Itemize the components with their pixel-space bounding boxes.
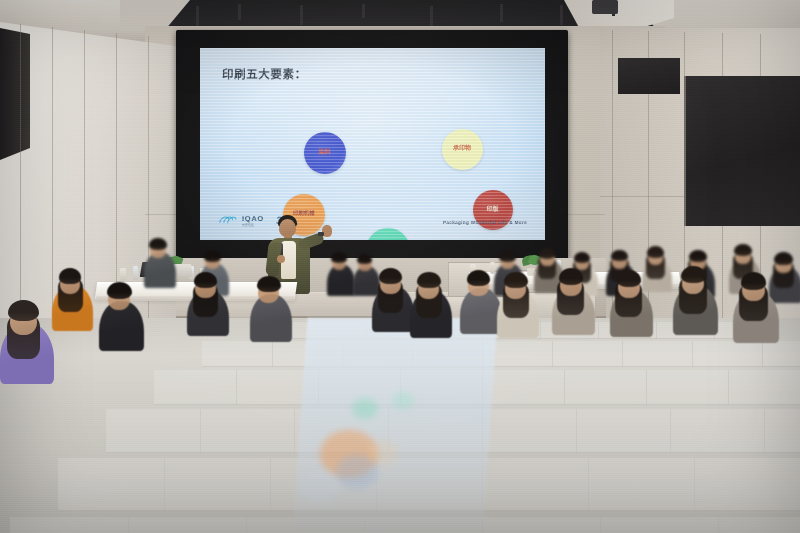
- ceiling-pipe: [196, 6, 199, 28]
- floor-tile: [588, 458, 695, 511]
- floor-tile: [482, 370, 565, 405]
- floor-tile: [164, 458, 271, 511]
- floor-tile: [728, 370, 800, 405]
- floor-tile: [600, 517, 719, 533]
- presentation-room-photo: 印刷五大要素： 染料承印物印刷机械印版印刷油墨 IQAO 吉安包装 35 YEA…: [0, 0, 800, 533]
- hair: [539, 248, 555, 259]
- wall-seam: [84, 30, 85, 322]
- left-wall-dark-edge: [0, 28, 30, 168]
- hair: [379, 268, 402, 284]
- ceiling-pipe: [560, 5, 563, 25]
- floor-tile: [694, 458, 800, 511]
- hair: [741, 272, 767, 290]
- right-wall-dark-panel-upper: [618, 58, 680, 94]
- water-bottle: [133, 266, 138, 280]
- floor-tile: [10, 517, 129, 533]
- hair: [331, 252, 347, 263]
- wall-seam: [52, 27, 53, 323]
- hair: [647, 246, 664, 258]
- floor-tile: [202, 341, 273, 367]
- wall-seam: [20, 24, 21, 324]
- hair: [107, 282, 132, 299]
- hair: [257, 276, 281, 292]
- floor-tile: [670, 409, 765, 453]
- floor-tile: [646, 370, 729, 405]
- ceiling-soffit-left-upper: [0, 0, 120, 26]
- ceiling-pipe: [300, 5, 303, 25]
- hair: [204, 250, 221, 262]
- screen-vignette: [200, 48, 545, 240]
- hair: [681, 266, 706, 283]
- floor-tile: [692, 341, 763, 367]
- floor-tile: [718, 517, 800, 533]
- presenter-hand-mic: [277, 255, 285, 263]
- floor-tile: [564, 370, 647, 405]
- floor-tile: [128, 517, 247, 533]
- hair: [559, 268, 583, 285]
- bubble-reflection: [300, 470, 340, 503]
- hair: [194, 272, 217, 288]
- hair: [734, 244, 752, 256]
- floor-tile: [764, 409, 800, 453]
- water-bottle: [120, 268, 126, 281]
- bubble-reflection: [392, 392, 414, 410]
- hair: [689, 250, 706, 262]
- hair: [467, 270, 490, 286]
- floor-tile: [58, 458, 165, 511]
- hair: [774, 252, 793, 265]
- floor-tile: [576, 409, 671, 453]
- ceiling-pipe: [500, 4, 503, 22]
- hair: [504, 272, 528, 288]
- ceiling-duct: [592, 0, 618, 14]
- hair: [611, 250, 628, 261]
- hair: [357, 254, 372, 264]
- ceiling-pipe: [362, 4, 365, 18]
- floor-tile: [622, 341, 693, 367]
- floor-tile: [552, 341, 623, 367]
- laptop: [173, 264, 193, 277]
- floor-tile: [106, 409, 201, 453]
- hair: [149, 238, 167, 250]
- presenter-watch: [318, 232, 324, 236]
- hair: [617, 270, 641, 287]
- floor-tile: [482, 517, 601, 533]
- wall-seam: [116, 33, 117, 321]
- projection-screen: 印刷五大要素： 染料承印物印刷机械印版印刷油墨 IQAO 吉安包装 35 YEA…: [200, 48, 545, 240]
- floor-tile: [482, 458, 589, 511]
- right-wall-dark-panel: [684, 76, 800, 226]
- floor-tile: [154, 370, 237, 405]
- hair: [8, 300, 38, 321]
- hair: [574, 252, 590, 263]
- floor-tile: [200, 409, 295, 453]
- floor-tile: [482, 409, 577, 453]
- hair: [417, 272, 441, 288]
- bubble-reflection: [368, 440, 398, 465]
- water-bottle: [490, 262, 495, 274]
- hair: [499, 250, 516, 262]
- ceiling-pipe: [238, 4, 241, 20]
- floor-tile: [762, 341, 800, 367]
- hair: [59, 268, 82, 284]
